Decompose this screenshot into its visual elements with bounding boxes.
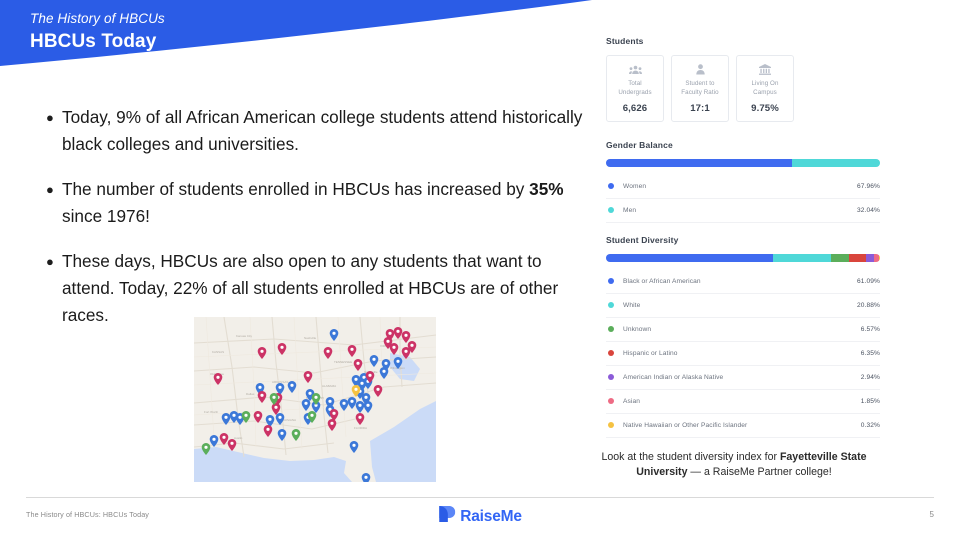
list-item: ● The number of students enrolled in HBC… xyxy=(46,176,598,230)
svg-text:FLORIDA: FLORIDA xyxy=(354,426,367,430)
hbcu-location-map: Oklahoma KANSAS Fort Worth Austin Dallas… xyxy=(194,317,436,482)
plain-text: Today, 9% of all African American colleg… xyxy=(62,107,582,154)
page-number: 5 xyxy=(930,510,934,519)
bar-segment xyxy=(879,254,880,262)
stat-value: 9.75% xyxy=(739,103,791,114)
legend-label: Women xyxy=(623,183,857,190)
legend-value: 20.88% xyxy=(857,302,880,309)
raiseme-mark-icon xyxy=(438,505,455,528)
legend-label: American Indian or Alaska Native xyxy=(623,374,861,381)
college-profile-widget: Students Total Undergrads 6,626 xyxy=(606,36,880,438)
raiseme-logo: RaiseMe xyxy=(438,505,522,528)
svg-text:Austin: Austin xyxy=(234,436,243,440)
legend-value: 2.94% xyxy=(861,374,880,381)
person-icon xyxy=(674,63,726,76)
list-item: ● Today, 9% of all African American coll… xyxy=(46,104,598,158)
emphasis-text: 35% xyxy=(529,179,563,199)
stat-label-line2: Campus xyxy=(739,89,791,98)
bar-segment xyxy=(606,254,773,262)
map-graphic: Oklahoma KANSAS Fort Worth Austin Dallas… xyxy=(194,317,436,482)
stat-card-total-undergrads[interactable]: Total Undergrads 6,626 xyxy=(606,55,664,122)
slide: The History of HBCUs HBCUs Today ● Today… xyxy=(0,0,960,540)
widget-caption: Look at the student diversity index for … xyxy=(586,450,882,480)
group-icon xyxy=(609,63,661,76)
plain-text: These days, HBCUs are also open to any s… xyxy=(62,251,558,325)
svg-text:Fort Worth: Fort Worth xyxy=(204,410,218,414)
plain-text: — a RaiseMe Partner college! xyxy=(687,466,831,478)
stat-label-line2: Faculty Ratio xyxy=(674,89,726,98)
legend-label: Hispanic or Latino xyxy=(623,350,861,357)
bar-segment xyxy=(849,254,866,262)
stat-label-line1: Total xyxy=(609,80,661,89)
legend-row: Hispanic or Latino6.35% xyxy=(606,342,880,366)
gender-balance-section-title: Gender Balance xyxy=(606,140,880,150)
stat-card-living-on-campus[interactable]: Living On Campus 9.75% xyxy=(736,55,794,122)
gender-balance-legend: Women67.96%Men32.04% xyxy=(606,175,880,223)
legend-label: Native Hawaiian or Other Pacific Islande… xyxy=(623,422,861,429)
stat-card-student-faculty-ratio[interactable]: Student to Faculty Ratio 17:1 xyxy=(671,55,729,122)
legend-swatch-icon xyxy=(608,326,614,332)
svg-text:Dallas: Dallas xyxy=(246,392,255,396)
bullet-dot-icon: ● xyxy=(46,176,62,203)
deck-title-eyebrow: The History of HBCUs xyxy=(30,10,165,28)
legend-row: Native Hawaiian or Other Pacific Islande… xyxy=(606,414,880,438)
bar-segment xyxy=(831,254,849,262)
legend-row: Men32.04% xyxy=(606,199,880,223)
legend-row: American Indian or Alaska Native2.94% xyxy=(606,366,880,390)
legend-row: Unknown6.57% xyxy=(606,318,880,342)
footer-deck-label: The History of HBCUs: HBCUs Today xyxy=(26,510,149,519)
legend-swatch-icon xyxy=(608,207,614,213)
bullet-list: ● Today, 9% of all African American coll… xyxy=(46,104,598,347)
bar-segment xyxy=(606,159,792,167)
legend-swatch-icon xyxy=(608,183,614,189)
gender-balance-bar xyxy=(606,159,880,167)
bullet-text: The number of students enrolled in HBCUs… xyxy=(62,176,598,230)
header-text-block: The History of HBCUs HBCUs Today xyxy=(30,10,165,53)
legend-label: Unknown xyxy=(623,326,861,333)
legend-value: 32.04% xyxy=(857,207,880,214)
legend-row: Asian1.85% xyxy=(606,390,880,414)
plain-text: since 1976! xyxy=(62,206,150,226)
svg-text:ALABAMA: ALABAMA xyxy=(322,384,336,388)
legend-row: White20.88% xyxy=(606,294,880,318)
bar-segment xyxy=(792,159,880,167)
stat-label-line1: Living On xyxy=(739,80,791,89)
legend-swatch-icon xyxy=(608,374,614,380)
plain-text: Look at the student diversity index for xyxy=(602,451,780,463)
student-diversity-bar xyxy=(606,254,880,262)
legend-label: Men xyxy=(623,207,857,214)
footer-divider xyxy=(26,497,934,498)
bullet-dot-icon: ● xyxy=(46,248,62,275)
legend-value: 6.35% xyxy=(861,350,880,357)
legend-label: Asian xyxy=(623,398,861,405)
legend-swatch-icon xyxy=(608,302,614,308)
building-icon xyxy=(739,63,791,76)
legend-value: 0.32% xyxy=(861,422,880,429)
student-diversity-legend: Black or African American61.09%White20.8… xyxy=(606,270,880,438)
stat-value: 17:1 xyxy=(674,103,726,114)
bullet-text: Today, 9% of all African American colleg… xyxy=(62,104,598,158)
svg-text:Nashville: Nashville xyxy=(304,336,317,340)
svg-text:TENNESSEE: TENNESSEE xyxy=(334,360,352,364)
legend-swatch-icon xyxy=(608,350,614,356)
legend-value: 6.57% xyxy=(861,326,880,333)
svg-text:Kansas City: Kansas City xyxy=(236,334,253,338)
legend-label: Black or African American xyxy=(623,278,857,285)
legend-row: Black or African American61.09% xyxy=(606,270,880,294)
students-section-title: Students xyxy=(606,36,880,46)
legend-value: 61.09% xyxy=(857,278,880,285)
student-diversity-section-title: Student Diversity xyxy=(606,235,880,245)
svg-text:KANSAS: KANSAS xyxy=(212,350,224,354)
legend-swatch-icon xyxy=(608,278,614,284)
stat-label-line2: Undergrads xyxy=(609,89,661,98)
legend-value: 67.96% xyxy=(857,183,880,190)
page-title: HBCUs Today xyxy=(30,31,165,53)
stat-label-line1: Student to xyxy=(674,80,726,89)
legend-swatch-icon xyxy=(608,398,614,404)
bullet-dot-icon: ● xyxy=(46,104,62,131)
plain-text: The number of students enrolled in HBCUs… xyxy=(62,179,529,199)
stat-card-group: Total Undergrads 6,626 Student to Facult… xyxy=(606,55,880,122)
bar-segment xyxy=(866,254,874,262)
stat-value: 6,626 xyxy=(609,103,661,114)
legend-row: Women67.96% xyxy=(606,175,880,199)
legend-value: 1.85% xyxy=(861,398,880,405)
raiseme-wordmark: RaiseMe xyxy=(460,508,522,526)
legend-swatch-icon xyxy=(608,422,614,428)
bar-segment xyxy=(773,254,830,262)
legend-label: White xyxy=(623,302,857,309)
